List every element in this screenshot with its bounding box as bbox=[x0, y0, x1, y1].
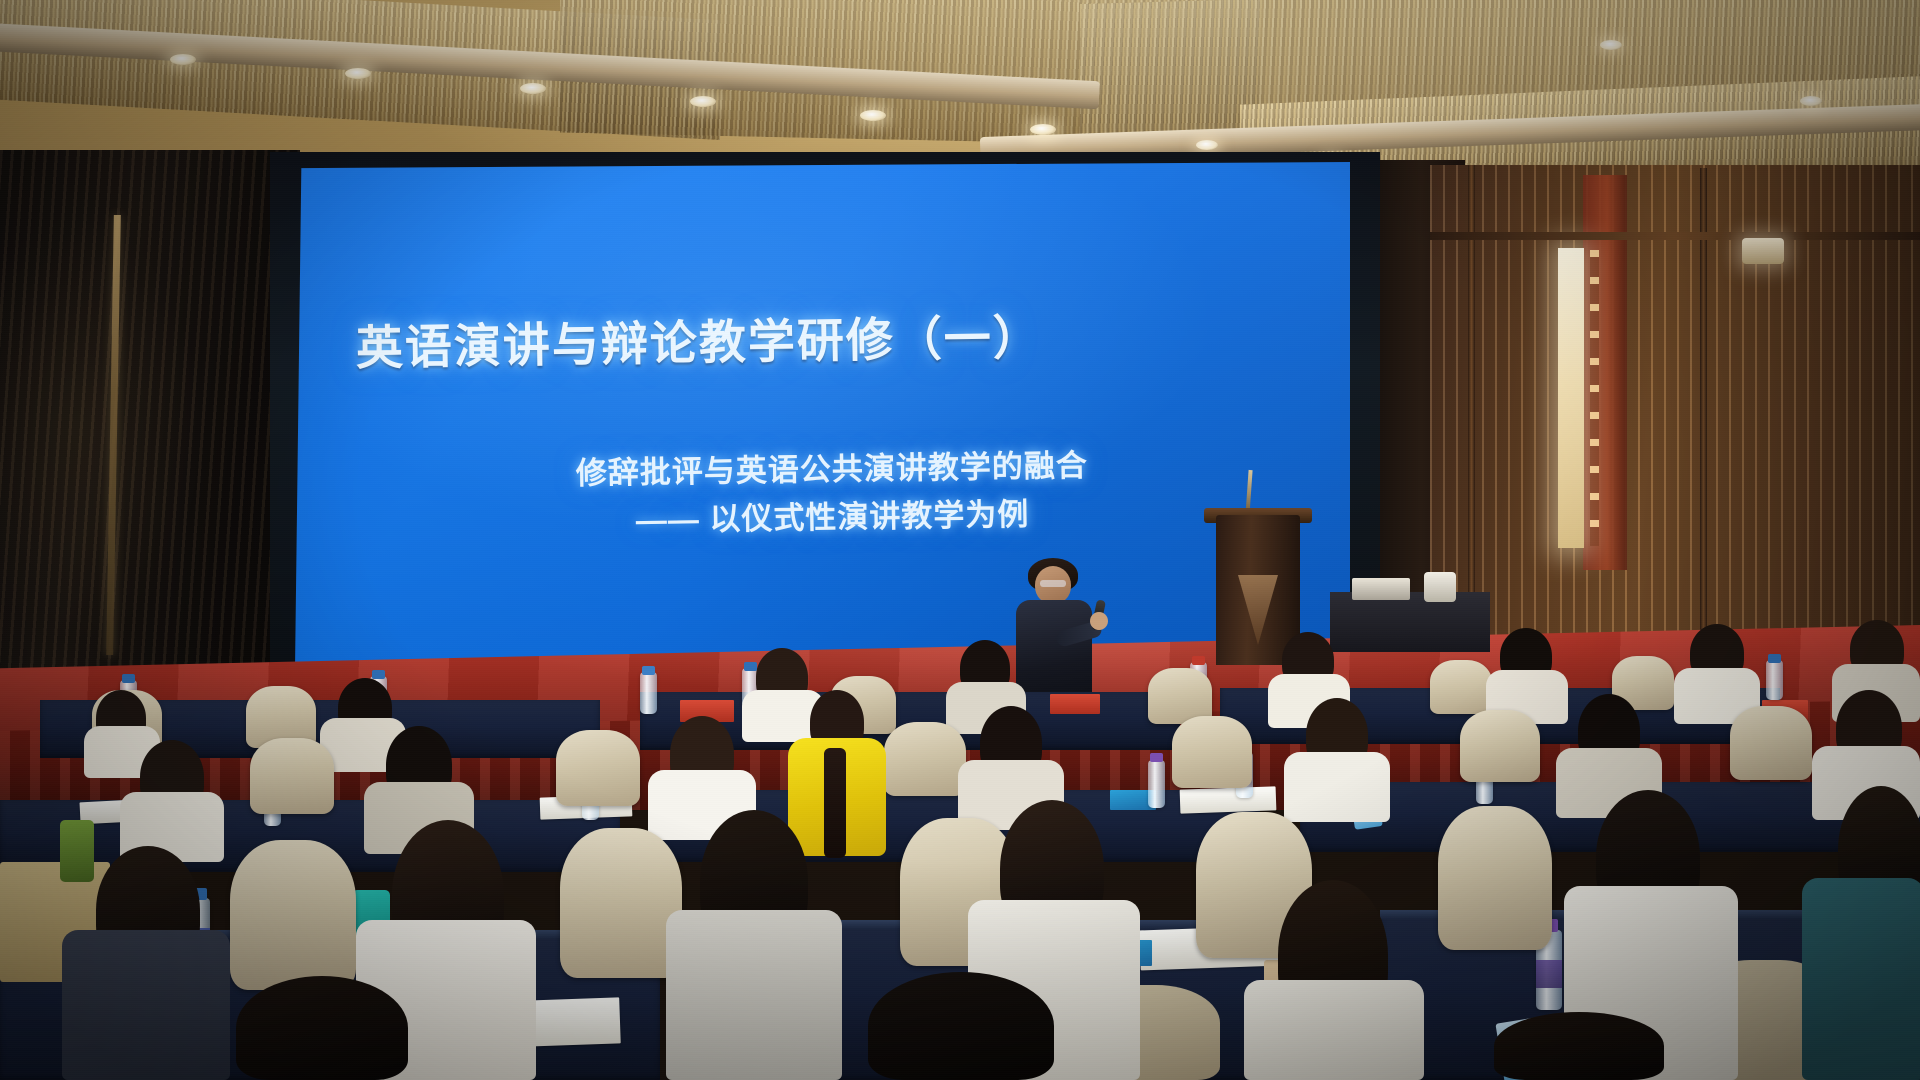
slide-title: 英语演讲与辩论教学研修（一） bbox=[355, 295, 1286, 379]
recessed-downlight bbox=[690, 96, 716, 107]
water-bottle bbox=[1766, 660, 1783, 700]
chair bbox=[1460, 710, 1540, 782]
attendee-hair bbox=[1494, 1012, 1664, 1080]
water-bottle bbox=[640, 672, 657, 714]
attendee-torso bbox=[1802, 878, 1920, 1080]
recessed-downlight bbox=[345, 68, 371, 79]
slide-content: 英语演讲与辩论教学研修（一） 修辞批评与英语公共演讲教学的融合 —— 以仪式性演… bbox=[291, 154, 1354, 679]
panel-divider bbox=[1700, 168, 1707, 703]
wood-panel-slats bbox=[1430, 165, 1920, 705]
bottle-label bbox=[1536, 960, 1562, 988]
recessed-downlight bbox=[1030, 124, 1056, 135]
bottle-cap bbox=[1192, 656, 1205, 665]
paper-handout bbox=[1180, 786, 1277, 813]
bottle-cap bbox=[744, 662, 757, 671]
bottle-cap bbox=[122, 674, 135, 683]
chair bbox=[1430, 660, 1492, 714]
vertical-light-column bbox=[1558, 248, 1584, 548]
bottle-cap bbox=[642, 666, 655, 675]
chair bbox=[1730, 706, 1812, 780]
stage-equipment bbox=[1424, 572, 1456, 602]
chair bbox=[230, 840, 356, 990]
light-column-beads bbox=[1590, 250, 1599, 546]
wall-sconce bbox=[1742, 238, 1784, 264]
chair bbox=[556, 730, 640, 806]
attendee-torso bbox=[666, 910, 842, 1080]
recessed-downlight bbox=[1600, 40, 1622, 50]
chair bbox=[250, 738, 334, 814]
chair bbox=[884, 722, 966, 796]
bottle-cap bbox=[1150, 753, 1163, 762]
recessed-downlight bbox=[170, 54, 196, 65]
recessed-downlight bbox=[1800, 96, 1822, 106]
bottle-cap bbox=[372, 670, 385, 679]
chair bbox=[560, 828, 682, 978]
recessed-downlight bbox=[860, 110, 886, 121]
speaker-hand bbox=[1090, 612, 1108, 630]
attendee-hair bbox=[868, 972, 1054, 1080]
name-placard bbox=[1050, 694, 1100, 714]
chair bbox=[1438, 806, 1552, 950]
conference-hall-photo: 英语演讲与辩论教学研修（一） 修辞批评与英语公共演讲教学的融合 —— 以仪式性演… bbox=[0, 0, 1920, 1080]
recessed-downlight bbox=[520, 83, 546, 94]
bottle-cap bbox=[1768, 654, 1781, 663]
travel-mug bbox=[60, 820, 94, 882]
slide-subtitle-line2: —— 以仪式性演讲教学为例 bbox=[392, 485, 1273, 544]
stage-side-table bbox=[1330, 592, 1490, 652]
speaker-glasses bbox=[1040, 580, 1066, 587]
attendee-torso bbox=[62, 930, 230, 1080]
water-bottle bbox=[1148, 760, 1165, 808]
attendee-hair bbox=[236, 976, 408, 1080]
stage-equipment bbox=[1352, 578, 1410, 600]
attendee-torso bbox=[1244, 980, 1424, 1080]
attendee-braid bbox=[824, 748, 846, 858]
attendee-torso bbox=[1284, 752, 1390, 822]
panel-rail bbox=[1430, 232, 1920, 240]
recessed-downlight bbox=[1196, 140, 1218, 150]
chair bbox=[1172, 716, 1252, 788]
